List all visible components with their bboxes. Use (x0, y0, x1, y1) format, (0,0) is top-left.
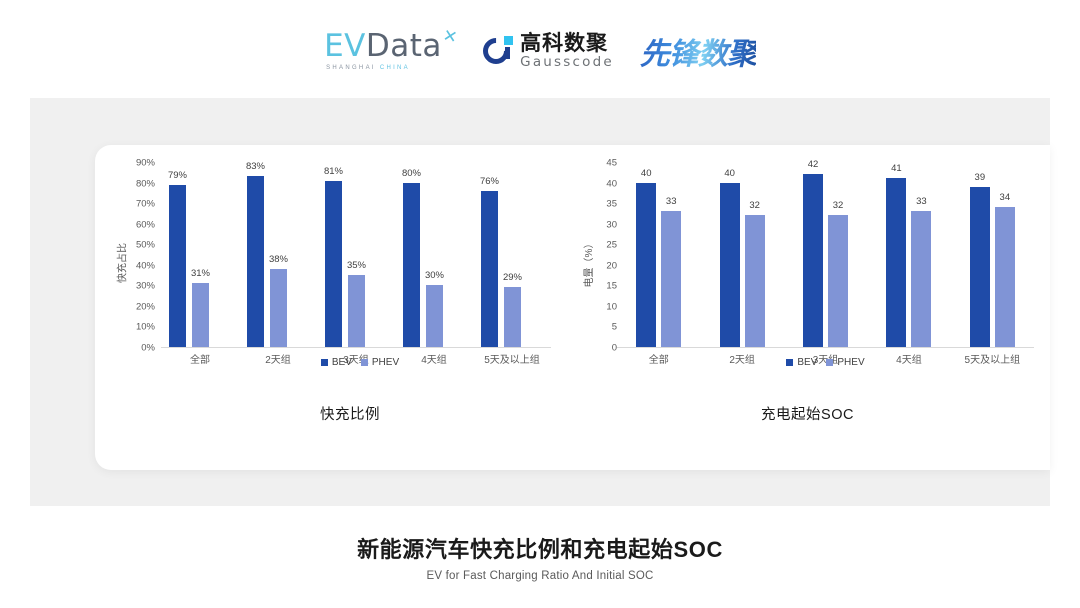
evdata-wordmark: EVData✕ (324, 31, 457, 62)
slide-root: EVData✕ SHANGHAI CHINA 高科数聚 Gausscode 先锋… (0, 0, 1080, 608)
bar-group: 79%31% (161, 163, 239, 347)
y-tick-label: 20% (121, 301, 155, 312)
evdata-subtitle-city: SHANGHAI (326, 65, 376, 71)
bar-value-label: 42 (808, 159, 819, 170)
bar-value-label: 41 (891, 163, 902, 174)
bar-value-label: 31% (191, 268, 210, 279)
y-tick-label: 40% (121, 260, 155, 271)
bars-container: 40334032423241333934 (617, 163, 1034, 348)
bar-group: 81%35% (317, 163, 395, 347)
bar-group: 83%38% (239, 163, 317, 347)
bar-phev[interactable]: 33 (661, 211, 681, 347)
bar-value-label: 79% (168, 170, 187, 181)
bar-value-label: 40 (641, 168, 652, 179)
legend-item-bev: BEV (786, 357, 817, 368)
bar-value-label: 38% (269, 254, 288, 265)
bar-group: 4232 (784, 163, 867, 347)
bar-value-label: 30% (425, 270, 444, 281)
y-tick-label: 15 (583, 281, 617, 292)
bar-phev[interactable]: 32 (828, 215, 848, 347)
bar-phev[interactable]: 30% (426, 285, 443, 347)
y-tick-label: 10 (583, 301, 617, 312)
bar-value-label: 32 (833, 200, 844, 211)
bar-bev[interactable]: 42 (803, 174, 823, 347)
bar-value-label: 29% (503, 272, 522, 283)
bar-phev[interactable]: 32 (745, 215, 765, 347)
evdata-logo: EVData✕ SHANGHAI CHINA (324, 31, 457, 71)
y-axis-ticks: 0%10%20%30%40%50%60%70%80%90% (121, 163, 155, 348)
chart-fast-charging-ratio: 快充占比 0%10%20%30%40%50%60%70%80%90% 79%31… (95, 145, 565, 470)
chart-plot-area: 电量（%） 051015202530354045 403340324232413… (565, 163, 1050, 363)
gausscode-wordmark: 高科数聚 Gausscode (520, 33, 614, 70)
bar-bev[interactable]: 79% (169, 185, 186, 347)
y-tick-label: 0% (121, 343, 155, 354)
gausscode-logo-cn-text: 高科数聚 (520, 33, 614, 54)
bar-value-label: 33 (916, 196, 927, 207)
chart-title: 快充比例 (115, 403, 585, 424)
bar-group: 80%30% (395, 163, 473, 347)
bar-phev[interactable]: 33 (911, 211, 931, 347)
evdata-subtitle-country: CHINA (380, 65, 410, 71)
y-tick-label: 45 (583, 158, 617, 169)
y-axis-ticks: 051015202530354045 (583, 163, 617, 348)
bar-bev[interactable]: 76% (481, 191, 498, 347)
evdata-logo-data-text: Data (366, 31, 442, 62)
logo-bar: EVData✕ SHANGHAI CHINA 高科数聚 Gausscode 先锋… (0, 22, 1080, 80)
bar-value-label: 76% (480, 176, 499, 187)
y-tick-label: 60% (121, 219, 155, 230)
bar-phev[interactable]: 38% (270, 269, 287, 347)
chart-plot-area: 快充占比 0%10%20%30%40%50%60%70%80%90% 79%31… (95, 163, 565, 363)
y-tick-label: 30% (121, 281, 155, 292)
bar-phev[interactable]: 35% (348, 275, 365, 347)
y-tick-label: 40 (583, 178, 617, 189)
legend-swatch-phev (826, 359, 833, 366)
legend-item-phev: PHEV (361, 357, 399, 368)
bar-bev[interactable]: 81% (325, 181, 342, 348)
bar-value-label: 39 (975, 172, 986, 183)
cross-icon: ✕ (441, 27, 458, 47)
bar-value-label: 34 (1000, 192, 1011, 203)
chart-initial-soc: 电量（%） 051015202530354045 403340324232413… (565, 145, 1050, 470)
y-tick-label: 20 (583, 260, 617, 271)
bars-container: 79%31%83%38%81%35%80%30%76%29% (161, 163, 551, 348)
bar-value-label: 35% (347, 260, 366, 271)
legend-label-bev: BEV (332, 357, 352, 368)
y-tick-label: 80% (121, 178, 155, 189)
bar-phev[interactable]: 34 (995, 207, 1015, 347)
bar-value-label: 40 (724, 168, 735, 179)
chart-legend: BEV PHEV (583, 357, 1068, 368)
bar-group: 76%29% (473, 163, 551, 347)
gausscode-logo: 高科数聚 Gausscode (483, 33, 614, 70)
bar-value-label: 32 (749, 200, 760, 211)
legend-swatch-bev (321, 359, 328, 366)
bar-phev[interactable]: 31% (192, 283, 209, 347)
legend-item-bev: BEV (321, 357, 352, 368)
evdata-logo-ev-text: EV (324, 31, 366, 62)
y-tick-label: 30 (583, 219, 617, 230)
legend-label-phev: PHEV (372, 357, 399, 368)
chart-legend: BEV PHEV (125, 357, 595, 368)
bar-bev[interactable]: 40 (720, 183, 740, 347)
page-title: 新能源汽车快充比例和充电起始SOC (0, 532, 1080, 564)
xianfeng-logo: 先锋数聚 (640, 27, 756, 75)
legend-label-bev: BEV (797, 357, 817, 368)
chart-title: 充电起始SOC (565, 403, 1050, 424)
y-tick-label: 50% (121, 240, 155, 251)
y-tick-label: 5 (583, 322, 617, 333)
bar-bev[interactable]: 39 (970, 187, 990, 347)
y-tick-label: 10% (121, 322, 155, 333)
bar-bev[interactable]: 80% (403, 183, 420, 347)
legend-label-phev: PHEV (837, 357, 864, 368)
bar-group: 4133 (867, 163, 950, 347)
evdata-logo-subtitle: SHANGHAI CHINA (326, 65, 410, 71)
bar-value-label: 81% (324, 166, 343, 177)
bar-value-label: 80% (402, 168, 421, 179)
bar-phev[interactable]: 29% (504, 287, 521, 347)
charts-card: 快充占比 0%10%20%30%40%50%60%70%80%90% 79%31… (95, 145, 1050, 470)
bar-group: 4033 (617, 163, 700, 347)
page-subtitle: EV for Fast Charging Ratio And Initial S… (0, 570, 1080, 582)
legend-item-phev: PHEV (826, 357, 864, 368)
bar-group: 3934 (951, 163, 1034, 347)
legend-swatch-bev (786, 359, 793, 366)
bar-bev[interactable]: 83% (247, 176, 264, 347)
bar-value-label: 83% (246, 161, 265, 172)
gausscode-mark-icon (483, 36, 513, 66)
gausscode-logo-en-text: Gausscode (520, 56, 614, 70)
footer: 新能源汽车快充比例和充电起始SOC EV for Fast Charging R… (0, 532, 1080, 582)
y-tick-label: 0 (583, 343, 617, 354)
y-tick-label: 25 (583, 240, 617, 251)
bar-bev[interactable]: 41 (886, 178, 906, 347)
legend-swatch-phev (361, 359, 368, 366)
y-tick-label: 70% (121, 199, 155, 210)
bar-value-label: 33 (666, 196, 677, 207)
bar-group: 4032 (700, 163, 783, 347)
y-tick-label: 90% (121, 158, 155, 169)
y-tick-label: 35 (583, 199, 617, 210)
bar-bev[interactable]: 40 (636, 183, 656, 347)
